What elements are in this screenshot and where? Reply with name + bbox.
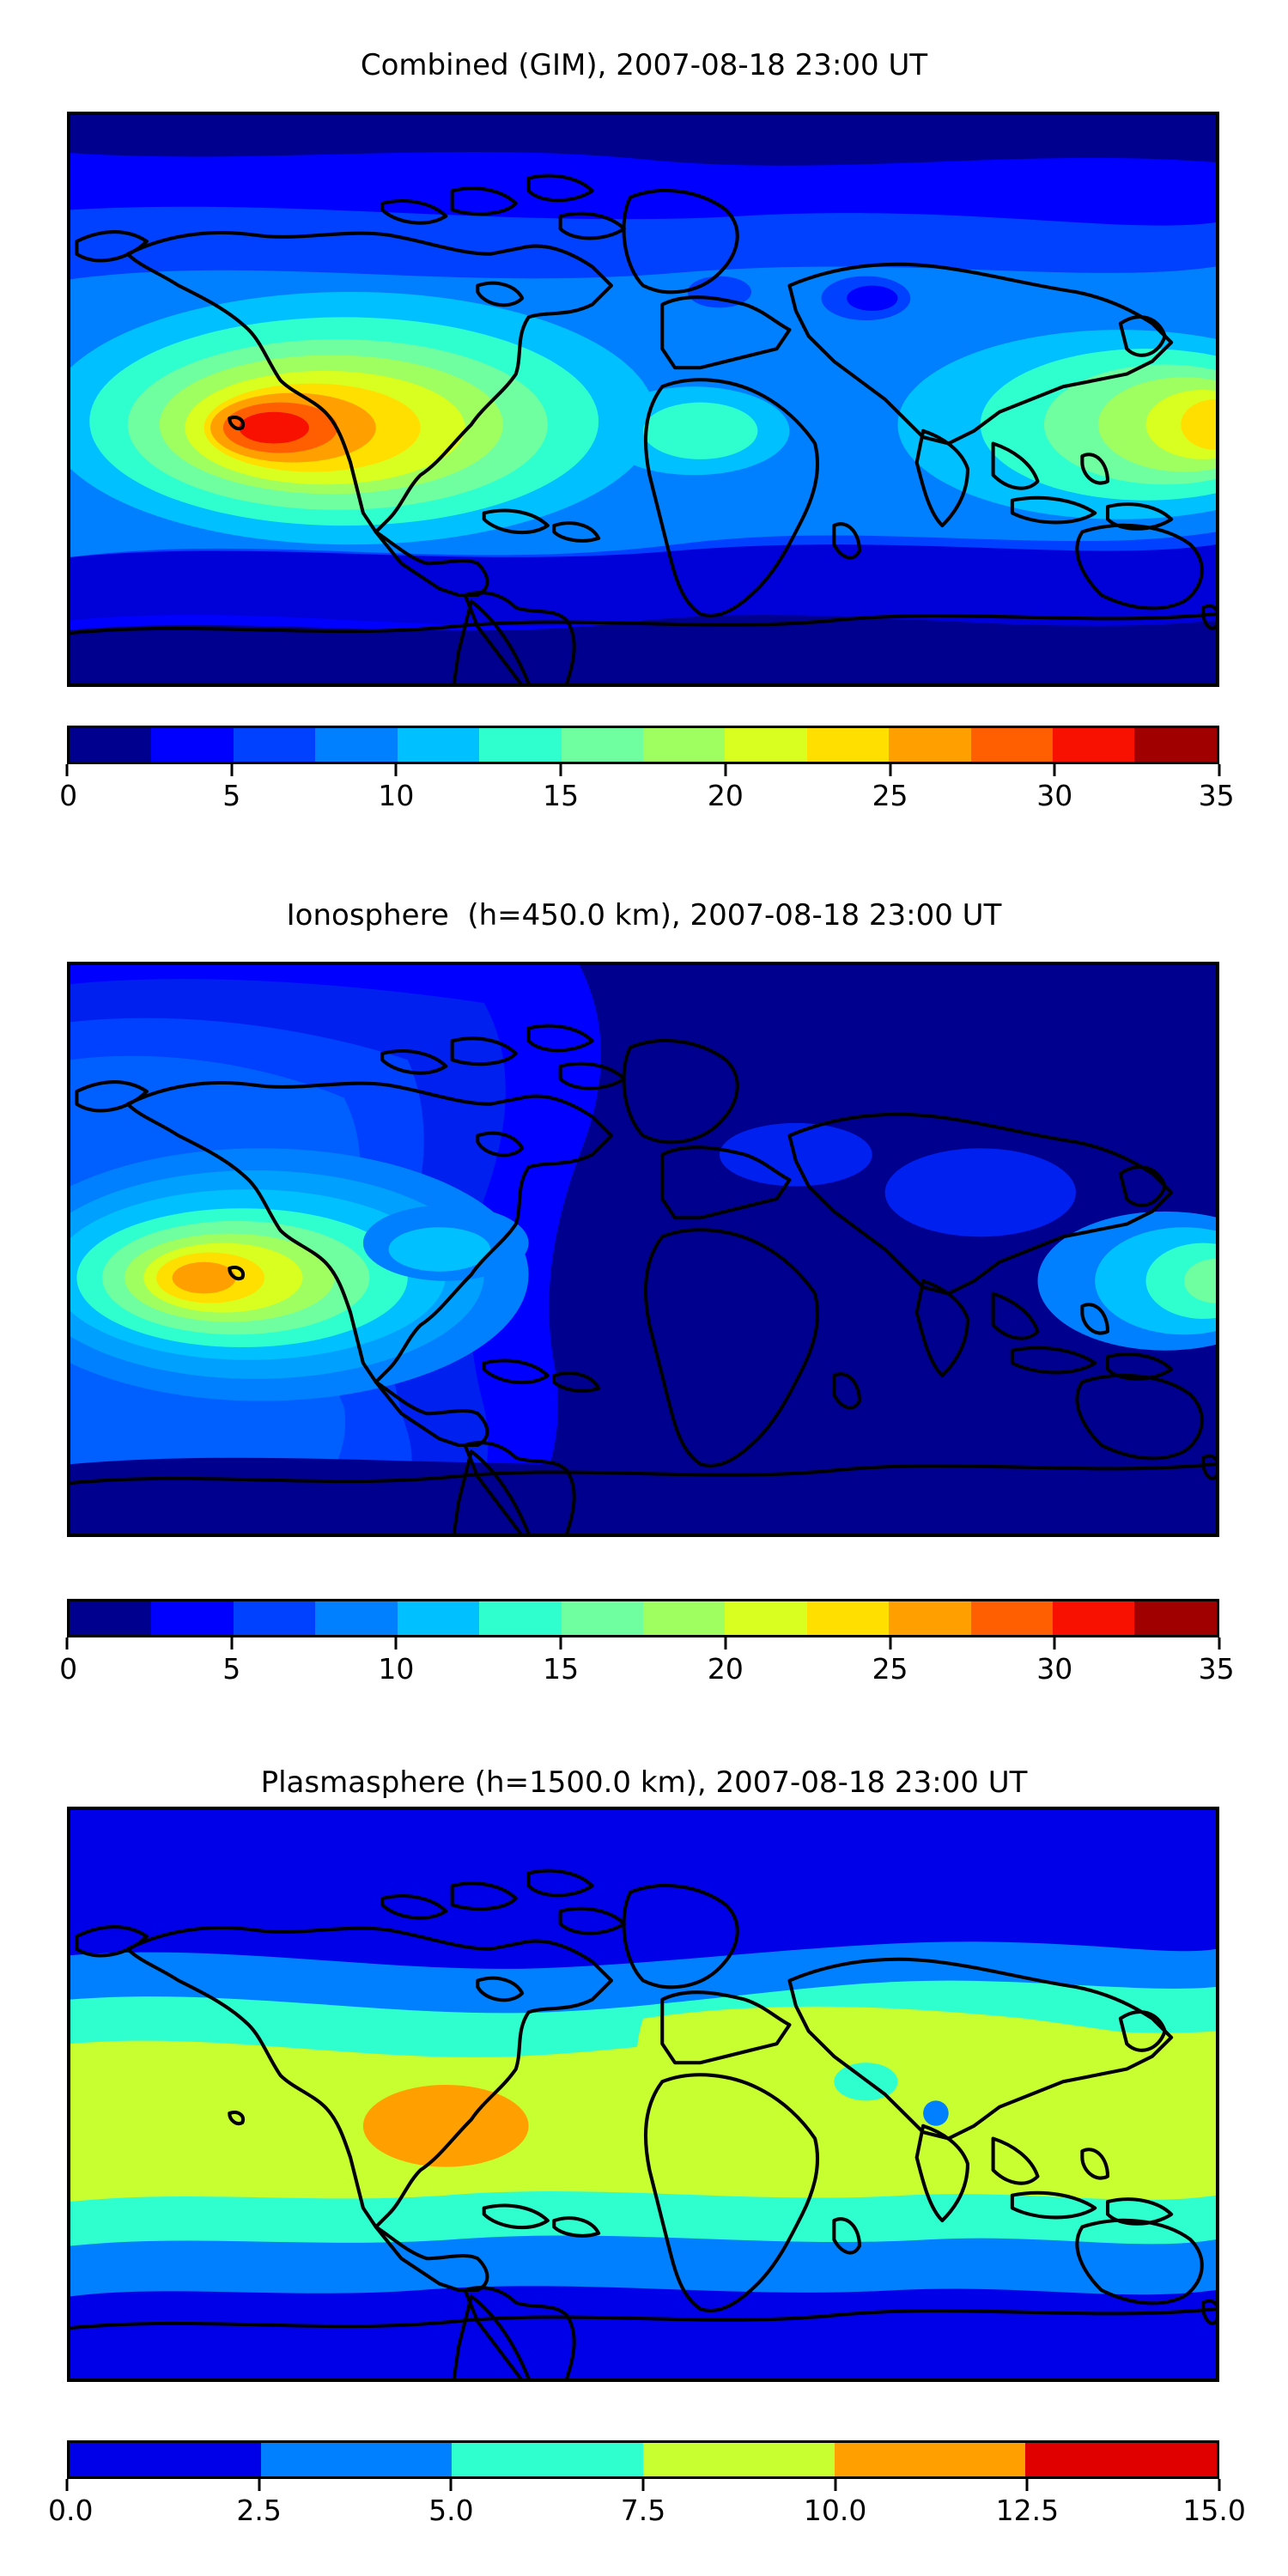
colorbar-segment-2 xyxy=(234,1601,315,1635)
colorbar-tick-4 xyxy=(724,1637,726,1649)
colorbar-segment-8 xyxy=(725,1601,806,1635)
colorbar-segment-4 xyxy=(398,1601,479,1635)
colorbar-tick-label-2: 5.0 xyxy=(428,2494,473,2527)
colorbar-segment-4 xyxy=(835,2443,1026,2476)
colorbar-segment-0 xyxy=(70,728,151,762)
map-field-combined-gim xyxy=(70,115,1216,683)
colorbar-tick-4 xyxy=(834,2479,836,2491)
colorbar-tick-2 xyxy=(395,1637,398,1649)
colorbar-tick-label-4: 10.0 xyxy=(804,2494,866,2527)
colorbar-tick-5 xyxy=(889,764,891,776)
colorbar-tick-0 xyxy=(66,1637,69,1649)
map-axes-combined-gim[interactable] xyxy=(67,112,1219,687)
colorbar-tick-label-7: 35 xyxy=(1199,779,1235,812)
colorbar-segment-12 xyxy=(1053,1601,1134,1635)
colorbar-segment-0 xyxy=(70,1601,151,1635)
colorbar-tick-label-6: 30 xyxy=(1036,779,1072,812)
colorbar-segment-2 xyxy=(452,2443,643,2476)
colorbar-tick-label-7: 35 xyxy=(1199,1652,1235,1686)
colorbar-tick-label-1: 5 xyxy=(222,779,240,812)
colorbar-ticks-1 xyxy=(67,764,1219,776)
colorbar-tick-6 xyxy=(1218,2479,1221,2491)
colorbar-ticks-3 xyxy=(67,2479,1219,2491)
colorbar-tick-label-4: 20 xyxy=(708,1652,744,1686)
colorbar-tick-label-1: 2.5 xyxy=(236,2494,281,2527)
colorbar-segment-10 xyxy=(889,728,970,762)
colorbar-tick-label-2: 10 xyxy=(378,779,414,812)
colorbar-segment-0 xyxy=(70,2443,261,2476)
colorbar-tick-0 xyxy=(66,2479,69,2491)
colorbar-tick-5 xyxy=(889,1637,891,1649)
colorbar-tick-label-3: 15 xyxy=(543,1652,579,1686)
colorbar-segment-9 xyxy=(807,1601,889,1635)
colorbar-segment-13 xyxy=(1134,728,1216,762)
colorbar-segment-5 xyxy=(1025,2443,1217,2476)
colorbar-tick-0 xyxy=(66,764,69,776)
colorbar-tick-label-3: 7.5 xyxy=(621,2494,665,2527)
colorbar-tick-label-5: 25 xyxy=(872,1652,908,1686)
map-axes-ionosphere[interactable] xyxy=(67,962,1219,1537)
colorbar-tick-label-0: 0 xyxy=(59,779,77,812)
colorbar-labels-3: 0.02.55.07.510.012.515.0 xyxy=(67,2494,1219,2533)
colorbar-segment-4 xyxy=(398,728,479,762)
colorbar-segment-9 xyxy=(807,728,889,762)
colorbar-tick-label-0: 0.0 xyxy=(48,2494,93,2527)
colorbar-tick-6 xyxy=(1054,764,1056,776)
colorbar-ionosphere[interactable]: 05101520253035 xyxy=(67,1599,1219,1637)
colorbar-ticks-2 xyxy=(67,1637,1219,1649)
colorbar-labels-1: 05101520253035 xyxy=(67,779,1219,818)
colorbar-tick-1 xyxy=(258,2479,260,2491)
map-field-ionosphere xyxy=(70,965,1216,1534)
colorbar-labels-2: 05101520253035 xyxy=(67,1652,1219,1692)
colorbar-segment-6 xyxy=(562,728,643,762)
colorbar-segment-6 xyxy=(562,1601,643,1635)
panel-title-plasmasphere: Plasmasphere (h=1500.0 km), 2007-08-18 2… xyxy=(0,1765,1288,1800)
colorbar-segment-1 xyxy=(151,1601,233,1635)
colorbar-tick-7 xyxy=(1218,764,1221,776)
colorbar-tick-3 xyxy=(560,1637,562,1649)
colorbar-segment-10 xyxy=(889,1601,970,1635)
colorbar-tick-6 xyxy=(1054,1637,1056,1649)
colorbar-segment-8 xyxy=(725,728,806,762)
colorbar-tick-label-3: 15 xyxy=(543,779,579,812)
map-axes-plasmasphere[interactable] xyxy=(67,1807,1219,2382)
panel-title-combined-gim: Combined (GIM), 2007-08-18 23:00 UT xyxy=(0,48,1288,82)
panel-title-ionosphere: Ionosphere (h=450.0 km), 2007-08-18 23:0… xyxy=(0,898,1288,933)
colorbar-combined-gim[interactable]: 05101520253035 xyxy=(67,726,1219,764)
colorbar-tick-5 xyxy=(1026,2479,1029,2491)
colorbar-plasmasphere[interactable]: 0.02.55.07.510.012.515.0 xyxy=(67,2440,1219,2479)
colorbar-segment-3 xyxy=(315,728,397,762)
colorbar-tick-label-5: 25 xyxy=(872,779,908,812)
colorbar-gradient-1 xyxy=(67,726,1219,764)
colorbar-tick-label-6: 30 xyxy=(1036,1652,1072,1686)
colorbar-tick-label-4: 20 xyxy=(708,779,744,812)
colorbar-segment-7 xyxy=(643,1601,725,1635)
colorbar-segment-2 xyxy=(234,728,315,762)
colorbar-gradient-2 xyxy=(67,1599,1219,1637)
tec-contour-field-3 xyxy=(70,1810,1216,2379)
colorbar-segment-1 xyxy=(151,728,233,762)
colorbar-tick-2 xyxy=(395,764,398,776)
colorbar-gradient-3 xyxy=(67,2440,1219,2479)
colorbar-tick-3 xyxy=(560,764,562,776)
tec-contour-field-2 xyxy=(70,965,1216,1534)
colorbar-segment-5 xyxy=(479,1601,561,1635)
colorbar-segment-3 xyxy=(315,1601,397,1635)
map-field-plasmasphere xyxy=(70,1810,1216,2379)
colorbar-tick-1 xyxy=(230,1637,233,1649)
colorbar-segment-7 xyxy=(643,728,725,762)
colorbar-segment-13 xyxy=(1134,1601,1216,1635)
colorbar-segment-11 xyxy=(971,1601,1053,1635)
colorbar-tick-label-6: 15.0 xyxy=(1182,2494,1245,2527)
colorbar-segment-5 xyxy=(479,728,561,762)
colorbar-tick-7 xyxy=(1218,1637,1221,1649)
tec-contour-field-1 xyxy=(70,115,1216,683)
colorbar-tick-4 xyxy=(724,764,726,776)
colorbar-tick-2 xyxy=(450,2479,453,2491)
colorbar-segment-3 xyxy=(643,2443,835,2476)
colorbar-segment-12 xyxy=(1053,728,1134,762)
colorbar-tick-label-0: 0 xyxy=(59,1652,77,1686)
colorbar-segment-11 xyxy=(971,728,1053,762)
colorbar-tick-label-5: 12.5 xyxy=(996,2494,1059,2527)
colorbar-tick-3 xyxy=(642,2479,645,2491)
colorbar-tick-label-2: 10 xyxy=(378,1652,414,1686)
colorbar-segment-1 xyxy=(261,2443,453,2476)
colorbar-tick-1 xyxy=(230,764,233,776)
figure-canvas: Combined (GIM), 2007-08-18 23:00 UT xyxy=(0,0,1288,2576)
colorbar-tick-label-1: 5 xyxy=(222,1652,240,1686)
